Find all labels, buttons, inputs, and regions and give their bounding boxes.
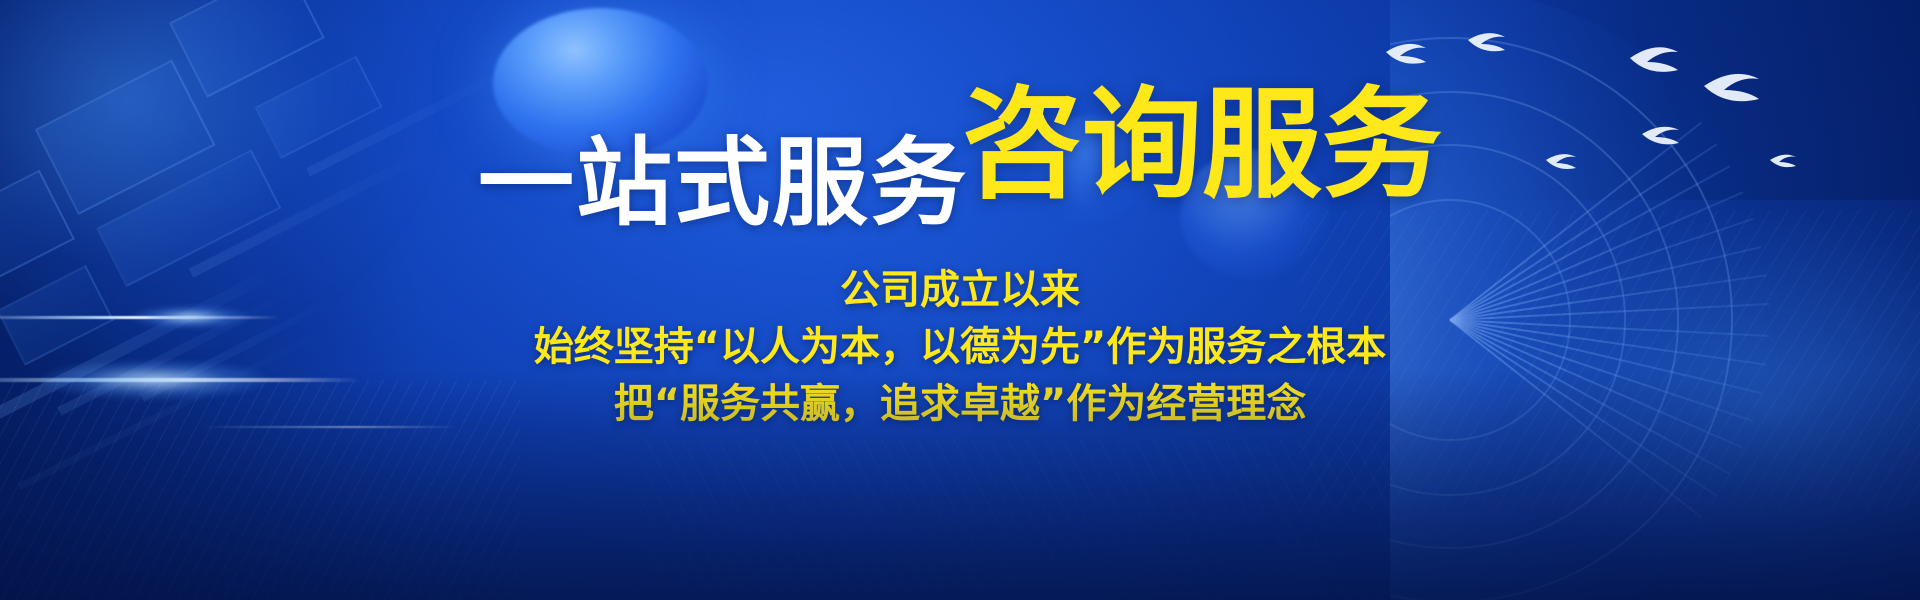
light-streak-upper-flare xyxy=(130,306,250,328)
flying-birds-decor xyxy=(1300,0,1920,260)
blue-sphere-orb xyxy=(493,8,708,158)
promo-banner: 一站式服务咨询服务 公司成立以来 始终坚持“以人为本，以德为先”作为服务之根本 … xyxy=(0,0,1920,600)
bottom-shade xyxy=(0,370,1920,600)
soft-orb-secondary xyxy=(1030,115,1150,225)
